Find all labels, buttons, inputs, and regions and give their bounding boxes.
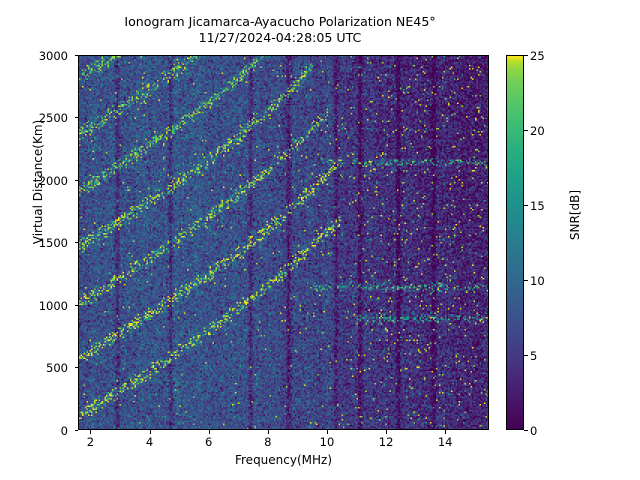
xtick-label: 2: [70, 435, 110, 449]
xtick-label: 10: [307, 435, 347, 449]
ionogram-plot-area: [78, 55, 489, 430]
colorbar-tick-label: 10: [530, 274, 545, 288]
colorbar-tick-label: 0: [530, 424, 537, 438]
colorbar-tick-label: 5: [530, 349, 537, 363]
xtick-mark: [386, 430, 387, 434]
colorbar-tick-mark: [524, 280, 528, 281]
xtick-label: 14: [425, 435, 465, 449]
colorbar-tick-mark: [524, 430, 528, 431]
y-axis-label: Virtual Distance(Km): [31, 72, 45, 292]
ionogram-heatmap-canvas: [79, 56, 489, 430]
ytick-label: 0: [61, 424, 68, 438]
ytick-mark: [75, 367, 79, 368]
ytick-mark: [75, 305, 79, 306]
colorbar-tick-label: 15: [530, 199, 545, 213]
colorbar-tick-label: 25: [530, 49, 545, 63]
ionogram-figure: Ionogram Jicamarca-Ayacucho Polarization…: [0, 0, 640, 480]
ytick-mark: [75, 117, 79, 118]
colorbar-tick-mark: [524, 130, 528, 131]
xtick-mark: [90, 430, 91, 434]
figure-title: Ionogram Jicamarca-Ayacucho Polarization…: [0, 14, 560, 45]
xtick-mark: [445, 430, 446, 434]
ytick-mark: [75, 430, 79, 431]
xtick-mark: [327, 430, 328, 434]
xtick-label: 6: [189, 435, 229, 449]
xtick-label: 4: [130, 435, 170, 449]
xtick-mark: [150, 430, 151, 434]
ytick-mark: [75, 180, 79, 181]
xtick-label: 12: [366, 435, 406, 449]
ytick-label: 500: [46, 361, 68, 375]
ytick-label: 3000: [39, 49, 68, 63]
colorbar-tick-mark: [524, 55, 528, 56]
colorbar-tick-mark: [524, 205, 528, 206]
xtick-label: 8: [248, 435, 288, 449]
xtick-mark: [209, 430, 210, 434]
xtick-mark: [268, 430, 269, 434]
x-axis-label: Frequency(MHz): [78, 453, 489, 467]
colorbar-tick-label: 20: [530, 124, 545, 138]
ytick-mark: [75, 55, 79, 56]
ytick-label: 1000: [39, 299, 68, 313]
colorbar-label: SNR[dB]: [568, 135, 582, 295]
ytick-mark: [75, 242, 79, 243]
colorbar-tick-mark: [524, 355, 528, 356]
colorbar: [506, 55, 524, 430]
